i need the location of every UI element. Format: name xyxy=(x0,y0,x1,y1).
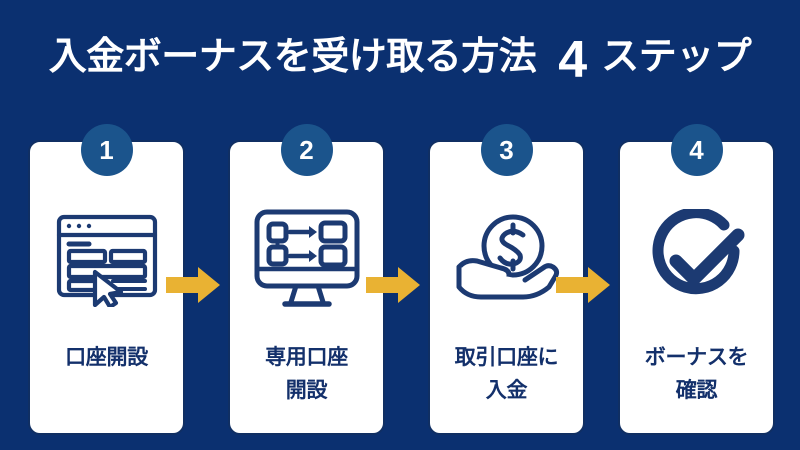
step-caption-1: 口座開設 xyxy=(30,342,183,375)
steps-container: 1 口座開設 xyxy=(0,120,800,420)
step-card-4[interactable]: 4 ボーナスを 確認 xyxy=(618,140,775,435)
step-caption-2: 専用口座 開設 xyxy=(230,342,383,407)
step-card-2[interactable]: 2 xyxy=(228,140,385,435)
title-main-text: 入金ボーナスを受け取る方法 xyxy=(49,38,537,76)
step-number-badge-2: 2 xyxy=(281,124,333,176)
step-number-badge-3: 3 xyxy=(481,124,533,176)
step-number-badge-1: 1 xyxy=(81,124,133,176)
arrow-right-icon-2 xyxy=(366,265,420,305)
step-caption-line: 入金 xyxy=(430,375,583,408)
step-caption-line: ボーナスを xyxy=(620,342,773,375)
arrow-right-icon-1 xyxy=(166,265,220,305)
step-number-badge-4: 4 xyxy=(671,124,723,176)
browser-window-cursor-icon xyxy=(30,194,183,324)
step-caption-4: ボーナスを 確認 xyxy=(620,342,773,407)
page-title: 入金ボーナスを受け取る方法 4 ステップ xyxy=(0,26,800,88)
step-caption-3: 取引口座に 入金 xyxy=(430,342,583,407)
circle-check-icon xyxy=(620,194,773,324)
step-caption-line: 確認 xyxy=(620,375,773,408)
arrow-right-icon-3 xyxy=(556,265,610,305)
infographic-root: 入金ボーナスを受け取る方法 4 ステップ 1 xyxy=(0,0,800,450)
title-unit-text: ステップ xyxy=(601,38,751,76)
step-caption-line: 取引口座に xyxy=(430,342,583,375)
step-card-1[interactable]: 1 口座開設 xyxy=(28,140,185,435)
step-caption-line: 開設 xyxy=(230,375,383,408)
monitor-flowchart-icon xyxy=(230,194,383,324)
title-step-count: 4 xyxy=(558,34,587,86)
step-caption-line: 専用口座 xyxy=(230,342,383,375)
step-caption-line: 口座開設 xyxy=(30,342,183,375)
